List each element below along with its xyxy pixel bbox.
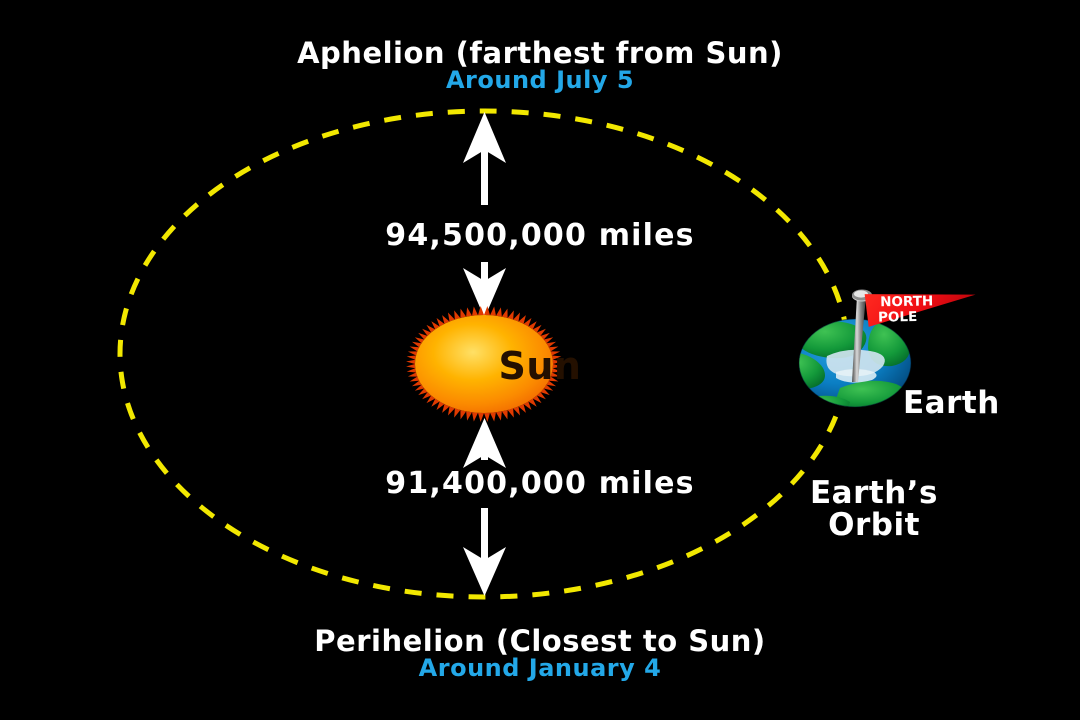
orbit-diagram-canvas: Sun	[0, 0, 1080, 720]
earth-orbit-label: Earth’s Orbit	[810, 478, 938, 541]
north-pole-flag: NORTH POLE	[865, 281, 979, 331]
flag-text-line2: POLE	[878, 309, 917, 326]
earth-orbit-label-line2: Orbit	[810, 510, 938, 542]
earth-orbit-label-line1: Earth’s	[810, 478, 938, 510]
perihelion-date: Around January 4	[0, 654, 1080, 682]
earth-globe	[783, 319, 911, 416]
flag-text-line1: NORTH	[880, 293, 933, 310]
earth-layer: NORTH POLE	[0, 0, 1080, 720]
aphelion-date: Around July 5	[0, 66, 1080, 94]
perihelion-title: Perihelion (Closest to Sun)	[0, 624, 1080, 658]
aphelion-title: Aphelion (farthest from Sun)	[0, 36, 1080, 70]
earth-label: Earth	[903, 388, 1000, 420]
aphelion-distance-label: 94,500,000 miles	[0, 218, 1080, 253]
